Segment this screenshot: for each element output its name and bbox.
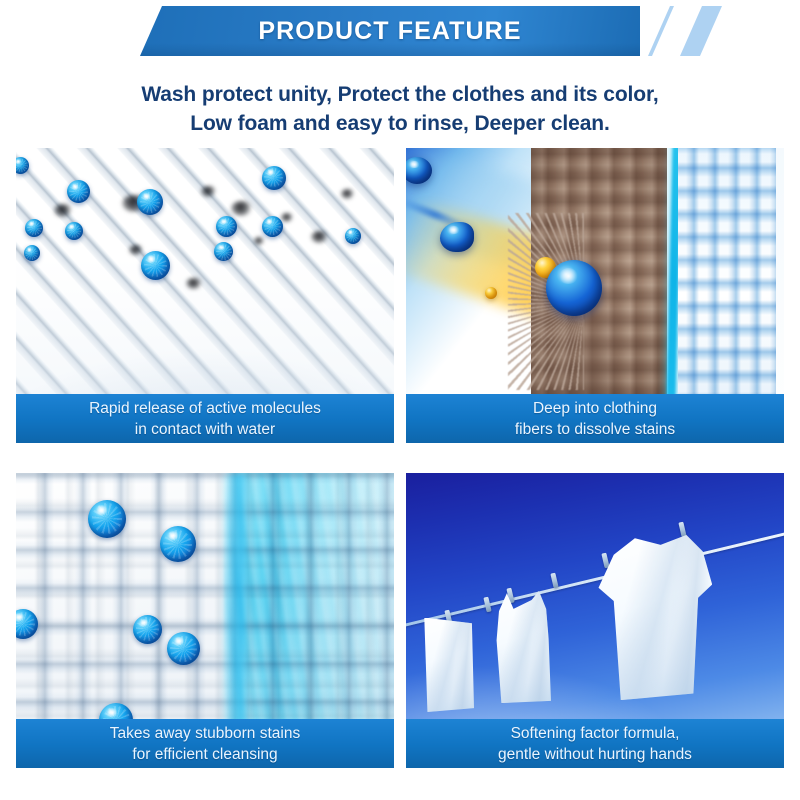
banner-accent-slash-2 xyxy=(680,6,722,56)
caption-line-2: gentle without hurting hands xyxy=(498,744,692,765)
hanging-tank-top xyxy=(493,591,553,703)
caption-stubborn-stains: Takes away stubborn stains for efficient… xyxy=(16,719,394,768)
caption-line-2: for efficient cleansing xyxy=(132,744,277,765)
active-molecule xyxy=(160,526,196,562)
feature-panel-softening-factor: Softening factor formula, gentle without… xyxy=(406,473,784,768)
caption-line-1: Softening factor formula, xyxy=(511,723,680,744)
photo-stubborn-stains: Takes away stubborn stains for efficient… xyxy=(16,473,394,768)
subtitle-line-2: Low foam and easy to rinse, Deeper clean… xyxy=(0,109,800,138)
page-title: PRODUCT FEATURE xyxy=(140,6,640,56)
stain-spot xyxy=(54,204,72,217)
yellow-micro-droplet xyxy=(485,287,497,299)
active-molecule xyxy=(88,500,126,538)
caption-deep-into-fibers: Deep into clothing fibers to dissolve st… xyxy=(406,394,784,443)
fabric-fold-shading xyxy=(493,591,553,703)
header-banner: PRODUCT FEATURE xyxy=(0,0,800,68)
feature-panel-stubborn-stains: Takes away stubborn stains for efficient… xyxy=(16,473,394,768)
active-molecule xyxy=(345,228,361,244)
stain-spot xyxy=(281,213,293,222)
feature-grid: Rapid release of active molecules in con… xyxy=(16,148,784,798)
active-molecule xyxy=(24,245,40,261)
photo-softening-factor: Softening factor formula, gentle without… xyxy=(406,473,784,768)
banner-accent-slash-1 xyxy=(648,6,674,56)
photo-deep-into-fibers: Deep into clothing fibers to dissolve st… xyxy=(406,148,784,443)
active-molecule xyxy=(65,222,83,240)
caption-softening-factor: Softening factor formula, gentle without… xyxy=(406,719,784,768)
active-molecule xyxy=(141,251,170,280)
active-molecule xyxy=(262,166,286,190)
active-molecule xyxy=(262,216,283,237)
active-molecule xyxy=(133,615,162,644)
feature-row-1: Rapid release of active molecules in con… xyxy=(16,148,784,443)
detergent-droplet-impact xyxy=(546,260,602,316)
stain-spot xyxy=(311,231,328,243)
detergent-droplet xyxy=(440,222,474,252)
stain-spot xyxy=(254,237,264,245)
caption-line-2: in contact with water xyxy=(135,419,275,440)
caption-line-2: fibers to dissolve stains xyxy=(515,419,675,440)
caption-line-1: Deep into clothing xyxy=(533,398,657,419)
caption-line-1: Rapid release of active molecules xyxy=(89,398,321,419)
stain-spot xyxy=(186,278,202,289)
feature-panel-rapid-release: Rapid release of active molecules in con… xyxy=(16,148,394,443)
photo-rapid-release: Rapid release of active molecules in con… xyxy=(16,148,394,443)
subtitle-block: Wash protect unity, Protect the clothes … xyxy=(0,80,800,138)
caption-line-1: Takes away stubborn stains xyxy=(110,723,300,744)
feature-panel-deep-into-fibers: Deep into clothing fibers to dissolve st… xyxy=(406,148,784,443)
caption-rapid-release: Rapid release of active molecules in con… xyxy=(16,394,394,443)
subtitle-line-1: Wash protect unity, Protect the clothes … xyxy=(0,80,800,109)
fabric-fold-shading xyxy=(421,618,474,712)
feature-row-2: Takes away stubborn stains for efficient… xyxy=(16,473,784,768)
hanging-towel xyxy=(421,618,474,712)
